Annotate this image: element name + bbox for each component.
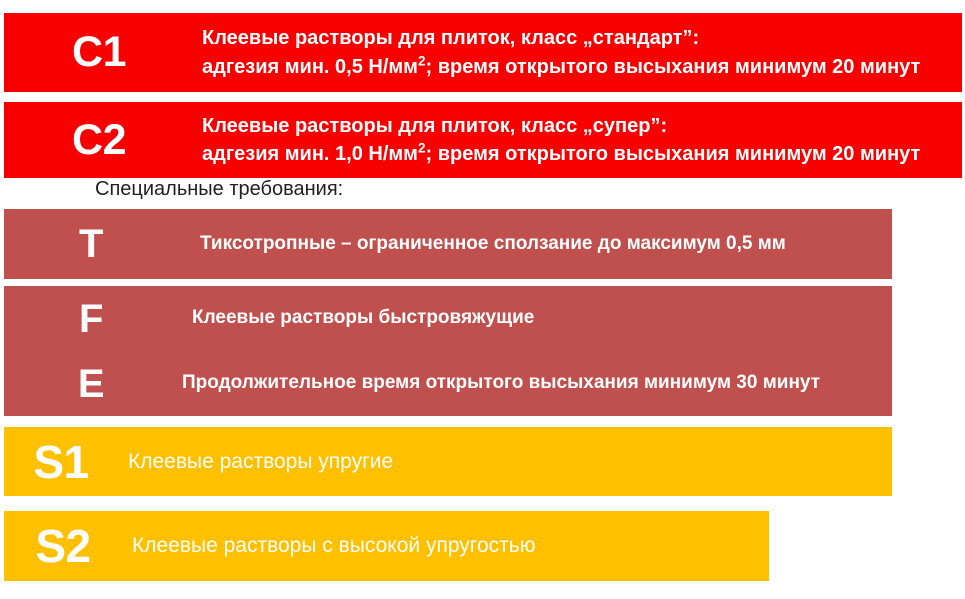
band-c1: C1 Клеевые растворы для плиток, класс „с… — [4, 13, 962, 92]
band-f: F Клеевые растворы быстровяжущие — [4, 286, 892, 351]
band-c2-line-2-part-a: адгезия мин. 1,0 Н/мм — [202, 143, 418, 165]
band-t-description: Тиксотропные – ограниченное сползание до… — [178, 209, 892, 279]
band-c2-code: C2 — [4, 102, 194, 178]
band-c1-line-2-part-a: адгезия мин. 0,5 Н/мм — [202, 56, 418, 78]
band-c1-description: Клеевые растворы для плиток, класс „стан… — [194, 13, 962, 92]
band-c1-line-1: Клеевые растворы для плиток, класс „стан… — [202, 24, 962, 52]
band-t-code: T — [4, 209, 178, 279]
band-c1-line-2-part-b: ; время открытого высыхания минимум 20 м… — [426, 56, 921, 78]
band-c1-line-2-superscript: 2 — [418, 53, 426, 68]
special-requirements-label: Специальные требования: — [95, 179, 343, 199]
classification-chart: C1 Клеевые растворы для плиток, класс „с… — [0, 0, 965, 599]
band-f-e-group: F Клеевые растворы быстровяжущие E Продо… — [4, 286, 892, 416]
band-c2-description: Клеевые растворы для плиток, класс „супе… — [194, 102, 962, 178]
band-c2-line-2: адгезия мин. 1,0 Н/мм2; время открытого … — [202, 140, 962, 168]
band-e-code: E — [4, 351, 178, 416]
band-s1-line-1: Клеевые растворы упругие — [128, 447, 892, 477]
band-f-line-1: Клеевые растворы быстровяжущие — [192, 305, 892, 332]
band-c1-line-2: адгезия мин. 0,5 Н/мм2; время открытого … — [202, 53, 962, 81]
band-f-code: F — [4, 286, 178, 351]
band-c2-line-2-part-b: ; время открытого высыхания минимум 20 м… — [426, 143, 921, 165]
band-s2-line-1: Клеевые растворы с высокой упругостью — [132, 531, 769, 561]
band-s1: S1 Клеевые растворы упругие — [4, 427, 892, 496]
band-c1-code: C1 — [4, 13, 194, 92]
band-t-line-1: Тиксотропные – ограниченное сползание до… — [200, 231, 892, 258]
band-e-description: Продолжительное время открытого высыхани… — [178, 370, 892, 397]
band-s2: S2 Клеевые растворы с высокой упругостью — [4, 511, 769, 581]
band-s1-description: Клеевые растворы упругие — [118, 427, 892, 496]
band-t: T Тиксотропные – ограниченное сползание … — [4, 209, 892, 279]
band-c2-line-1: Клеевые растворы для плиток, класс „супе… — [202, 112, 962, 140]
band-s2-code: S2 — [4, 511, 122, 581]
band-f-description: Клеевые растворы быстровяжущие — [178, 305, 892, 332]
band-c2: C2 Клеевые растворы для плиток, класс „с… — [4, 102, 962, 178]
band-s2-description: Клеевые растворы с высокой упругостью — [122, 511, 769, 581]
band-e: E Продолжительное время открытого высыха… — [4, 351, 892, 416]
band-e-line-1: Продолжительное время открытого высыхани… — [182, 370, 892, 397]
band-c2-line-2-superscript: 2 — [418, 140, 426, 155]
band-s1-code: S1 — [4, 427, 118, 496]
